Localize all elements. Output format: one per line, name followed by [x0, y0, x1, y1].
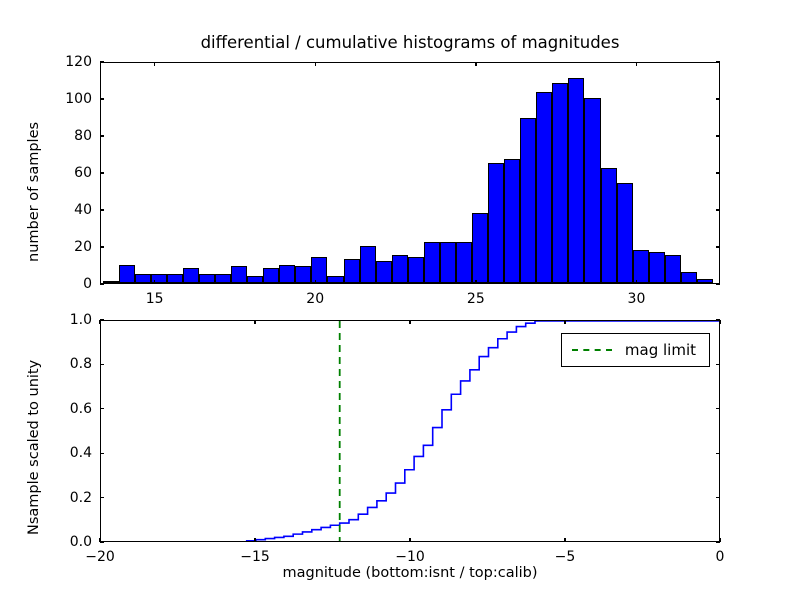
- top-y-tickmark-right: [716, 61, 720, 62]
- histogram-bar: [456, 242, 472, 283]
- top-x-tickmark: [636, 280, 637, 284]
- top-y-tickmark-right: [716, 209, 720, 210]
- top-y-tick-label: 120: [40, 54, 92, 70]
- top-y-tick-label: 80: [40, 128, 92, 144]
- bottom-y-tick-label: 0.0: [40, 534, 92, 550]
- histogram-bar: [360, 246, 376, 283]
- bottom-x-tickmark-top: [409, 320, 410, 324]
- legend-box: mag limit: [561, 333, 710, 367]
- top-x-tickmark-top: [636, 62, 637, 66]
- histogram-bar: [633, 250, 649, 283]
- x-axis-label: magnitude (bottom:isnt / top:calib): [100, 565, 720, 581]
- histogram-bar: [392, 255, 408, 283]
- histogram-bar: [167, 274, 183, 283]
- histogram-bar: [103, 281, 119, 283]
- top-y-tickmark-right: [716, 172, 720, 173]
- bottom-x-tickmark-top: [254, 320, 255, 324]
- top-y-tickmark-right: [716, 283, 720, 284]
- bottom-x-tick-label: −10: [395, 549, 425, 565]
- histogram-bar: [440, 242, 456, 283]
- histogram-bar: [617, 183, 633, 283]
- top-x-tick-label: 20: [306, 291, 324, 307]
- histogram-bar: [119, 265, 135, 284]
- bottom-y-tickmark: [100, 408, 104, 409]
- histogram-bar: [472, 213, 488, 283]
- bottom-y-tickmark: [100, 497, 104, 498]
- histogram-bar: [536, 92, 552, 283]
- histogram-bar: [488, 163, 504, 283]
- histogram-bar: [183, 268, 199, 283]
- bottom-x-tickmark: [564, 538, 565, 542]
- bottom-cumulative-axes: mag limit: [100, 320, 720, 542]
- bottom-y-tickmark: [100, 364, 104, 365]
- histogram-bar: [215, 274, 231, 283]
- histogram-bar: [504, 159, 520, 283]
- top-x-tickmark-top: [475, 62, 476, 66]
- top-x-tickmark: [154, 280, 155, 284]
- top-y-tick-label: 0: [40, 276, 92, 292]
- histogram-bar: [601, 168, 617, 283]
- bottom-x-tick-label: −15: [240, 549, 270, 565]
- histogram-bar: [295, 266, 311, 283]
- histogram-bar: [697, 279, 713, 283]
- histogram-bar: [665, 255, 681, 283]
- bottom-y-tickmark-right: [716, 497, 720, 498]
- top-y-tickmark: [100, 135, 104, 136]
- mag-limit-line-icon: [572, 349, 612, 351]
- histogram-bar: [231, 266, 247, 283]
- histogram-bar: [263, 268, 279, 283]
- top-y-tickmark-right: [716, 98, 720, 99]
- bottom-x-tick-label: −5: [555, 549, 576, 565]
- bottom-y-tick-label: 0.4: [40, 445, 92, 461]
- top-y-tick-label: 20: [40, 239, 92, 255]
- bottom-y-tickmark-right: [716, 364, 720, 365]
- histogram-bar: [649, 252, 665, 283]
- histogram-bar: [584, 98, 600, 283]
- top-x-tick-label: 30: [628, 291, 646, 307]
- histogram-bar: [247, 276, 263, 283]
- bottom-y-tickmark-right: [716, 453, 720, 454]
- histogram-bar: [568, 78, 584, 283]
- histogram-bar: [344, 259, 360, 283]
- bottom-y-tickmark-right: [716, 408, 720, 409]
- bottom-y-tickmark: [100, 453, 104, 454]
- bottom-x-tick-label: 0: [716, 549, 725, 565]
- histogram-bar: [681, 272, 697, 283]
- top-y-tickmark-right: [716, 246, 720, 247]
- top-x-tickmark-top: [315, 62, 316, 66]
- histogram-bar: [199, 274, 215, 283]
- histogram-bar: [279, 265, 295, 284]
- bottom-x-tick-label: −20: [85, 549, 115, 565]
- top-y-tick-label: 100: [40, 91, 92, 107]
- histogram-bar: [424, 242, 440, 283]
- legend-entry-mag-limit: mag limit: [625, 341, 696, 359]
- top-y-tickmark: [100, 98, 104, 99]
- top-x-tickmark: [315, 280, 316, 284]
- top-histogram-axes: [100, 62, 720, 284]
- top-y-tickmark: [100, 61, 104, 62]
- top-x-tickmark-top: [154, 62, 155, 66]
- bottom-x-tickmark: [409, 538, 410, 542]
- bottom-x-tickmark: [719, 538, 720, 542]
- histogram-bar: [552, 83, 568, 283]
- bottom-x-tickmark-top: [99, 320, 100, 324]
- top-x-tick-label: 15: [146, 291, 164, 307]
- bottom-x-tickmark: [99, 538, 100, 542]
- bottom-x-tickmark: [254, 538, 255, 542]
- top-plot-area: [101, 63, 719, 283]
- histogram-bar: [408, 257, 424, 283]
- top-x-tickmark: [475, 280, 476, 284]
- histogram-bar: [327, 276, 343, 283]
- bottom-y-tick-label: 1.0: [40, 312, 92, 328]
- bottom-x-tickmark-top: [719, 320, 720, 324]
- bottom-x-tickmark-top: [564, 320, 565, 324]
- top-y-tickmark: [100, 283, 104, 284]
- bottom-y-tick-label: 0.2: [40, 490, 92, 506]
- top-y-tick-label: 40: [40, 202, 92, 218]
- bottom-y-tick-label: 0.8: [40, 356, 92, 372]
- top-y-tickmark: [100, 246, 104, 247]
- figure-title: differential / cumulative histograms of …: [100, 33, 720, 52]
- histogram-bar: [376, 261, 392, 283]
- top-y-tickmark-right: [716, 135, 720, 136]
- top-y-tickmark: [100, 209, 104, 210]
- histogram-bar: [520, 118, 536, 283]
- bottom-y-tick-label: 0.6: [40, 401, 92, 417]
- top-x-tick-label: 25: [467, 291, 485, 307]
- top-y-tick-label: 60: [40, 165, 92, 181]
- histogram-bar: [135, 274, 151, 283]
- top-y-tickmark: [100, 172, 104, 173]
- figure-canvas: differential / cumulative histograms of …: [0, 0, 800, 600]
